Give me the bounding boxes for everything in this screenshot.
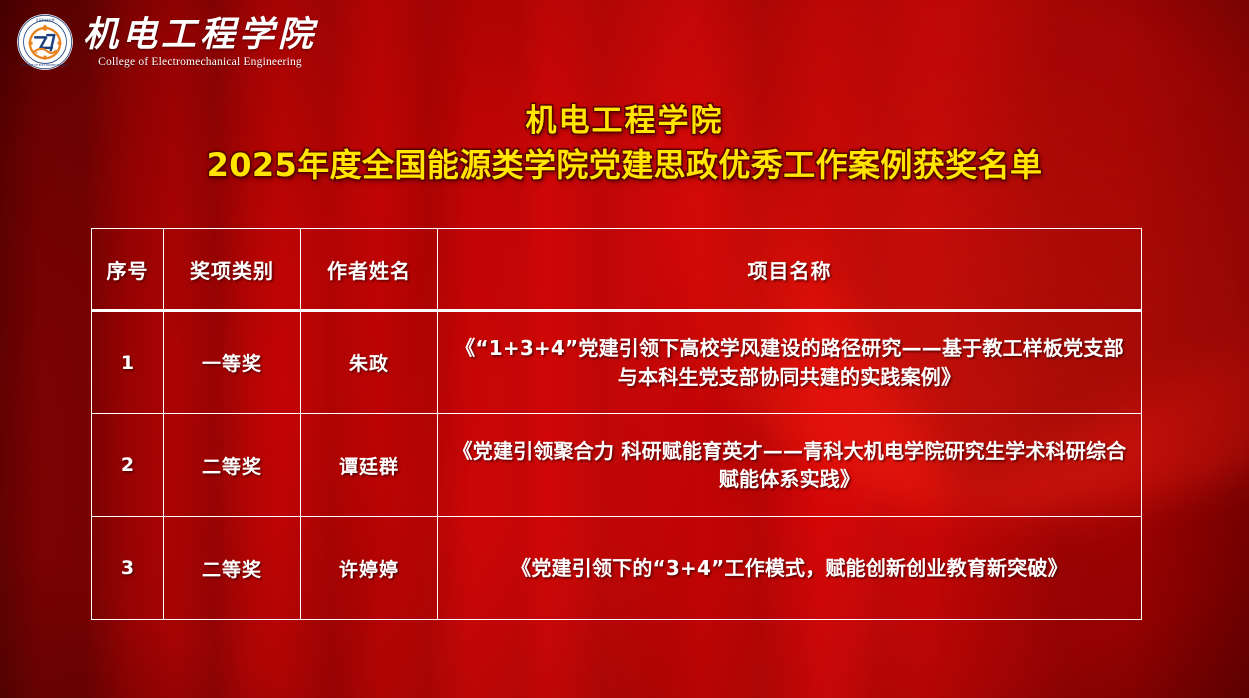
logo-english-name: College of Electromechanical Engineering xyxy=(98,56,302,68)
table-row: 3 二等奖 许婷婷 《党建引领下的“3+4”工作模式，赋能创新创业教育新突破》 xyxy=(92,517,1142,620)
svg-text:青岛科技大学: 青岛科技大学 xyxy=(35,18,54,23)
table-header-row: 序号 奖项类别 作者姓名 项目名称 xyxy=(92,229,1142,311)
slide-title-block: 机电工程学院 2025年度全国能源类学院党建思政优秀工作案例获奖名单 xyxy=(0,103,1249,185)
row-project: 《党建引领下的“3+4”工作模式，赋能创新创业教育新突破》 xyxy=(438,517,1142,620)
college-emblem-icon: 青岛科技大学 COLLEGE OF ELECTROMECHANICAL xyxy=(16,13,74,71)
header-project-name: 项目名称 xyxy=(438,229,1142,311)
logo-chinese-name: 机电工程学院 xyxy=(83,16,317,54)
row-author: 朱政 xyxy=(301,311,438,414)
row-award: 二等奖 xyxy=(164,414,301,517)
row-project: 《“1+3+4”党建引领下高校学风建设的路径研究——基于教工样板党支部与本科生党… xyxy=(438,311,1142,414)
title-line-1: 机电工程学院 xyxy=(0,103,1249,141)
header-no: 序号 xyxy=(92,229,164,311)
table-row: 1 一等奖 朱政 《“1+3+4”党建引领下高校学风建设的路径研究——基于教工样… xyxy=(92,311,1142,414)
college-logo: 青岛科技大学 COLLEGE OF ELECTROMECHANICAL xyxy=(16,6,316,78)
header-award-category: 奖项类别 xyxy=(164,229,301,311)
header-author-name: 作者姓名 xyxy=(301,229,438,311)
award-list-table: 序号 奖项类别 作者姓名 项目名称 1 一等奖 朱政 《“1+3+4”党建引领下… xyxy=(91,228,1142,620)
row-author: 谭廷群 xyxy=(301,414,438,517)
row-no: 1 xyxy=(92,311,164,414)
row-project: 《党建引领聚合力 科研赋能育英才——青科大机电学院研究生学术科研综合赋能体系实践… xyxy=(438,414,1142,517)
row-award: 二等奖 xyxy=(164,517,301,620)
table-row: 2 二等奖 谭廷群 《党建引领聚合力 科研赋能育英才——青科大机电学院研究生学术… xyxy=(92,414,1142,517)
row-author: 许婷婷 xyxy=(301,517,438,620)
svg-text:COLLEGE OF ELECTROMECHANICAL: COLLEGE OF ELECTROMECHANICAL xyxy=(21,63,69,67)
row-no: 2 xyxy=(92,414,164,517)
title-line-2: 2025年度全国能源类学院党建思政优秀工作案例获奖名单 xyxy=(0,146,1249,185)
row-no: 3 xyxy=(92,517,164,620)
row-award: 一等奖 xyxy=(164,311,301,414)
